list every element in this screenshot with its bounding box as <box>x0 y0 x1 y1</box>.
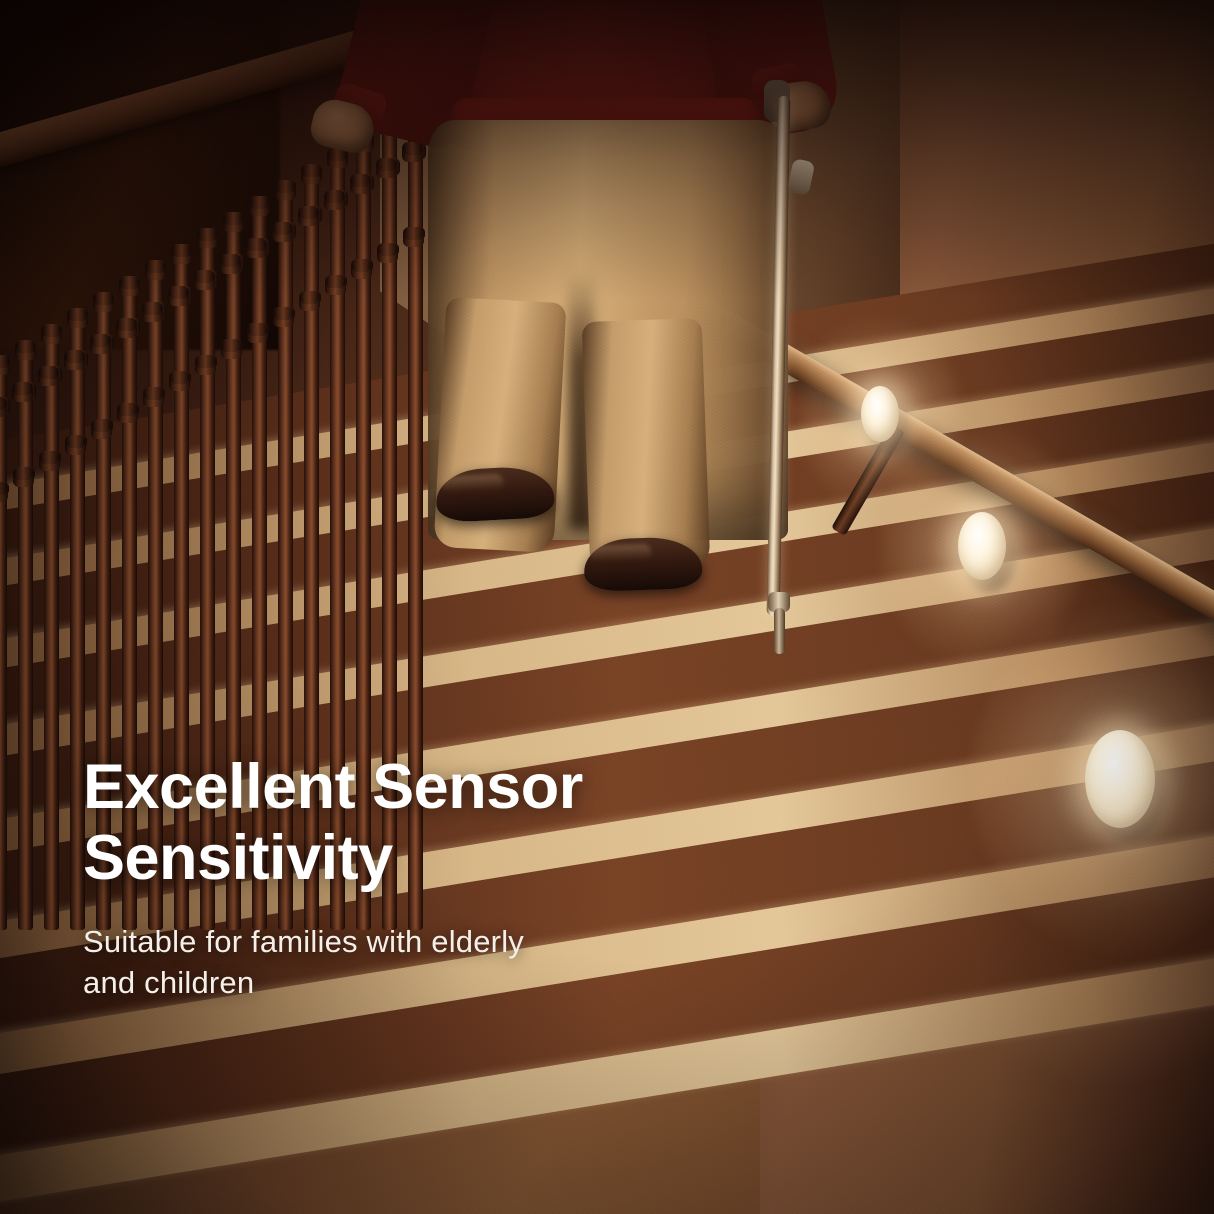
light-lens[interactable] <box>958 512 1006 580</box>
baluster-ring <box>250 323 269 336</box>
product-lifestyle-image: Excellent Sensor Sensitivity Suitable fo… <box>0 0 1214 1214</box>
baluster-ring <box>15 382 36 400</box>
baluster-ring <box>93 334 114 352</box>
wall-light-bottom[interactable] <box>1085 730 1155 828</box>
baluster-ring <box>224 339 243 352</box>
baluster-ring <box>94 419 113 432</box>
baluster-ring <box>145 302 166 320</box>
wall-light-top[interactable] <box>861 386 899 442</box>
baluster-ring <box>67 350 88 368</box>
right-leg <box>582 318 711 572</box>
baluster-ring <box>68 435 87 448</box>
baluster-ring <box>0 397 10 415</box>
baluster-ring <box>146 387 165 400</box>
headline-line-1: Excellent Sensor <box>83 752 583 822</box>
marketing-copy-block: Excellent Sensor Sensitivity Suitable fo… <box>83 752 783 1003</box>
baluster-ring <box>41 366 62 384</box>
baluster-ring <box>276 307 295 320</box>
baluster-ring <box>0 482 9 495</box>
top-shadow-overlay <box>0 0 1214 300</box>
subheadline-line-2: and children <box>83 965 254 1000</box>
light-lens[interactable] <box>1085 730 1155 828</box>
baluster-ring <box>172 371 191 384</box>
headline: Excellent Sensor Sensitivity <box>83 752 783 894</box>
cane-foot <box>774 608 785 654</box>
baluster-ring <box>16 467 35 480</box>
baluster <box>44 324 59 930</box>
baluster <box>0 355 7 930</box>
baluster-ring <box>120 403 139 416</box>
headline-line-2: Sensitivity <box>83 823 393 893</box>
baluster-ring <box>42 451 61 464</box>
wall-light-middle[interactable] <box>958 512 1006 580</box>
light-lens[interactable] <box>861 386 899 442</box>
subheadline: Suitable for families with elderly and c… <box>83 922 783 1003</box>
baluster-ring <box>119 318 140 336</box>
baluster <box>18 340 33 930</box>
baluster-ring <box>198 355 217 368</box>
subheadline-line-1: Suitable for families with elderly <box>83 924 524 959</box>
